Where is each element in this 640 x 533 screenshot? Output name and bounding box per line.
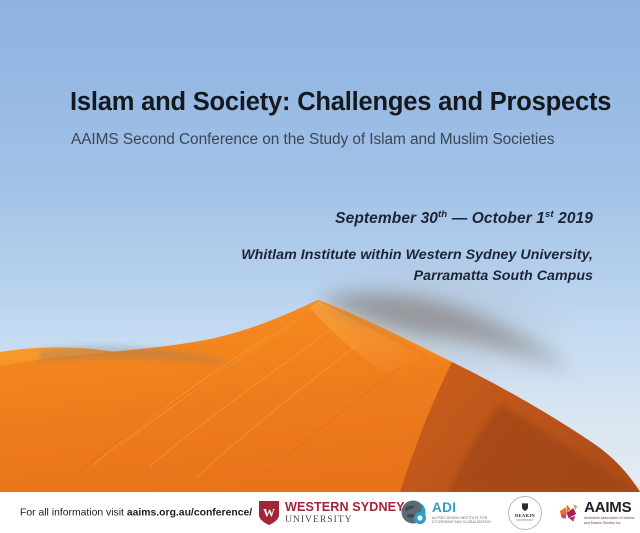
date-start: September 30 — [335, 210, 438, 227]
footer-info-text: For all information visit aaims.org.au/c… — [20, 507, 252, 518]
footer-url[interactable]: aaims.org.au/conference/ — [127, 507, 252, 518]
logo-western-sydney-university: W WESTERN SYDNEY UNIVERSITY — [258, 500, 405, 526]
logo-alfred-deakin-institute: ADI ALFRED DEAKIN INSTITUTE FOR CITIZENS… — [400, 499, 494, 527]
logo-deakin-university: DEAKIN UNIVERSITY — [508, 496, 542, 530]
deakin-crest-icon — [522, 503, 528, 511]
aaims-name: AAIMS — [584, 499, 640, 514]
venue-line-1: Whitlam Institute within Western Sydney … — [173, 245, 593, 266]
footer-info-prefix: For all information visit — [20, 507, 127, 518]
date-end: October 1 — [472, 210, 545, 227]
adi-globe-icon — [400, 499, 428, 527]
footer-bar: For all information visit aaims.org.au/c… — [0, 492, 640, 533]
conference-venue: Whitlam Institute within Western Sydney … — [173, 245, 593, 286]
deakin-subtitle: UNIVERSITY — [516, 519, 533, 522]
page-title: Islam and Society: Challenges and Prospe… — [70, 88, 590, 116]
date-end-ordinal: st — [545, 209, 554, 220]
adi-name: ADI — [432, 501, 494, 515]
deakin-name: DEAKIN — [515, 513, 535, 518]
aaims-tagline: Australian Association of Islamic and Mu… — [584, 516, 640, 525]
page-subtitle: AAIMS Second Conference on the Study of … — [71, 131, 611, 149]
aaims-map-icon — [556, 499, 581, 525]
venue-line-2: Parramatta South Campus — [173, 266, 593, 287]
wsu-shield-icon: W — [258, 500, 280, 526]
date-start-ordinal: th — [438, 209, 447, 220]
wsu-name-line-1: WESTERN SYDNEY — [285, 501, 405, 514]
wsu-name-line-2: UNIVERSITY — [285, 515, 405, 525]
adi-tagline: ALFRED DEAKIN INSTITUTE FOR CITIZENSHIP … — [432, 516, 494, 525]
date-year: 2019 — [554, 210, 593, 227]
conference-dates: September 30th — October 1st 2019 — [335, 210, 593, 228]
conference-poster: Islam and Society: Challenges and Prospe… — [0, 0, 640, 533]
logo-aaims: AAIMS Australian Association of Islamic … — [556, 499, 640, 525]
deakin-seal: DEAKIN UNIVERSITY — [508, 496, 542, 530]
svg-text:W: W — [263, 505, 275, 519]
date-dash: — — [447, 210, 471, 227]
